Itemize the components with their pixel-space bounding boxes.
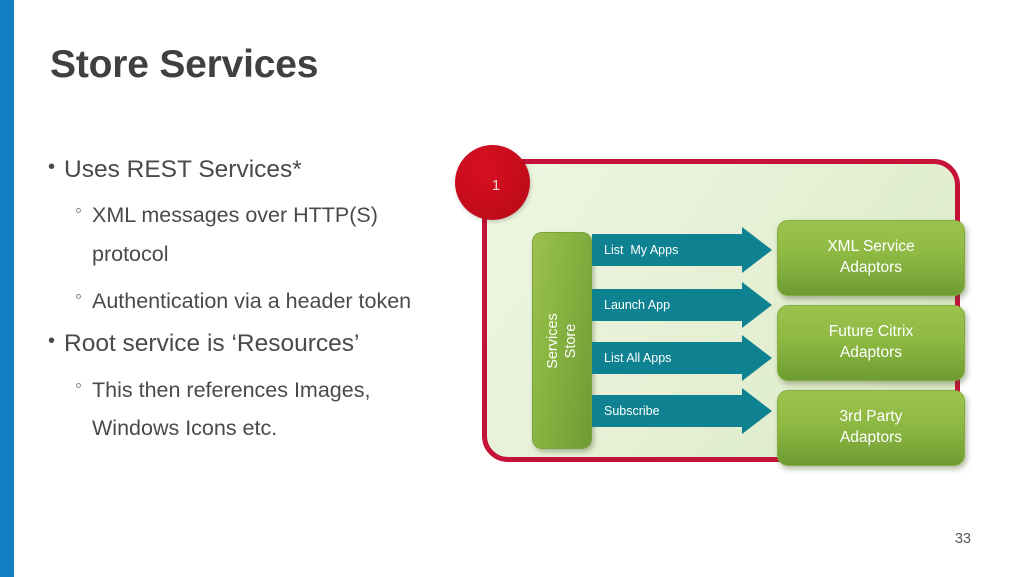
flow-arrow-list-my-apps: List My Apps: [592, 234, 772, 266]
arrow-head-icon: [742, 388, 772, 434]
adaptor-line1: XML Service: [827, 238, 914, 255]
store-services-diagram: Store Services List My Apps Launch App L…: [455, 145, 965, 465]
bullet-text: Uses REST Services*: [64, 156, 302, 183]
adaptor-box-3rd-party: 3rd Party Adaptors: [777, 390, 965, 466]
bullet-text: Authentication via a header token: [92, 289, 411, 313]
arrow-head-icon: [742, 335, 772, 381]
page-title: Store Services: [50, 43, 318, 87]
adaptor-box-label: Future Citrix Adaptors: [829, 322, 913, 363]
flow-arrow-launch-app: Launch App: [592, 289, 772, 321]
store-services-block: Store Services: [532, 232, 592, 449]
bullet-item-level2: This then references Images, Windows Ico…: [48, 371, 448, 448]
diagram-container-frame: Store Services List My Apps Launch App L…: [482, 159, 960, 462]
flow-arrow-list-all-apps: List All Apps: [592, 342, 772, 374]
adaptor-line2: Adaptors: [840, 259, 902, 276]
bullet-text: XML messages over HTTP(S) protocol: [92, 203, 378, 265]
slide-page-number: 33: [955, 531, 971, 547]
bullet-circle-icon: [76, 208, 81, 213]
bullet-item-level2: XML messages over HTTP(S) protocol: [48, 196, 448, 273]
store-services-line2: Services: [544, 313, 562, 369]
adaptor-line1: 3rd Party: [840, 408, 903, 425]
step-number-badge: 1: [455, 145, 530, 220]
adaptor-box-xml-service: XML Service Adaptors: [777, 220, 965, 296]
flow-arrow-label: Launch App: [604, 289, 670, 321]
bullet-text: Root service is ‘Resources’: [64, 330, 359, 357]
adaptor-box-label: XML Service Adaptors: [827, 237, 914, 278]
left-accent-bar: [0, 0, 14, 577]
bullet-dot-icon: •: [48, 328, 55, 355]
bullet-item-level2: Authentication via a header token: [48, 282, 448, 320]
flow-arrow-subscribe: Subscribe: [592, 395, 772, 427]
flow-arrow-label: List All Apps: [604, 342, 671, 374]
step-number-label: 1: [455, 145, 530, 220]
bullet-dot-icon: •: [48, 154, 55, 181]
adaptor-line2: Adaptors: [840, 429, 902, 446]
flow-arrow-label: Subscribe: [604, 395, 660, 427]
adaptor-box-label: 3rd Party Adaptors: [840, 407, 903, 448]
bullet-circle-icon: [76, 383, 81, 388]
store-services-block-label: Store Services: [544, 313, 580, 369]
bullet-item-level1: • Root service is ‘Resources’: [48, 329, 448, 358]
bullet-circle-icon: [76, 294, 81, 299]
arrow-head-icon: [742, 282, 772, 328]
adaptor-line1: Future Citrix: [829, 323, 913, 340]
adaptor-line2: Adaptors: [840, 344, 902, 361]
arrow-head-icon: [742, 227, 772, 273]
bullet-text: This then references Images, Windows Ico…: [92, 378, 370, 440]
slide-canvas: Store Services • Uses REST Services* XML…: [0, 0, 1023, 577]
flow-arrow-label: List My Apps: [604, 234, 678, 266]
bullet-item-level1: • Uses REST Services*: [48, 155, 448, 184]
adaptor-box-future-citrix: Future Citrix Adaptors: [777, 305, 965, 381]
store-services-line1: Store: [562, 323, 580, 358]
bullet-list: • Uses REST Services* XML messages over …: [48, 155, 448, 456]
